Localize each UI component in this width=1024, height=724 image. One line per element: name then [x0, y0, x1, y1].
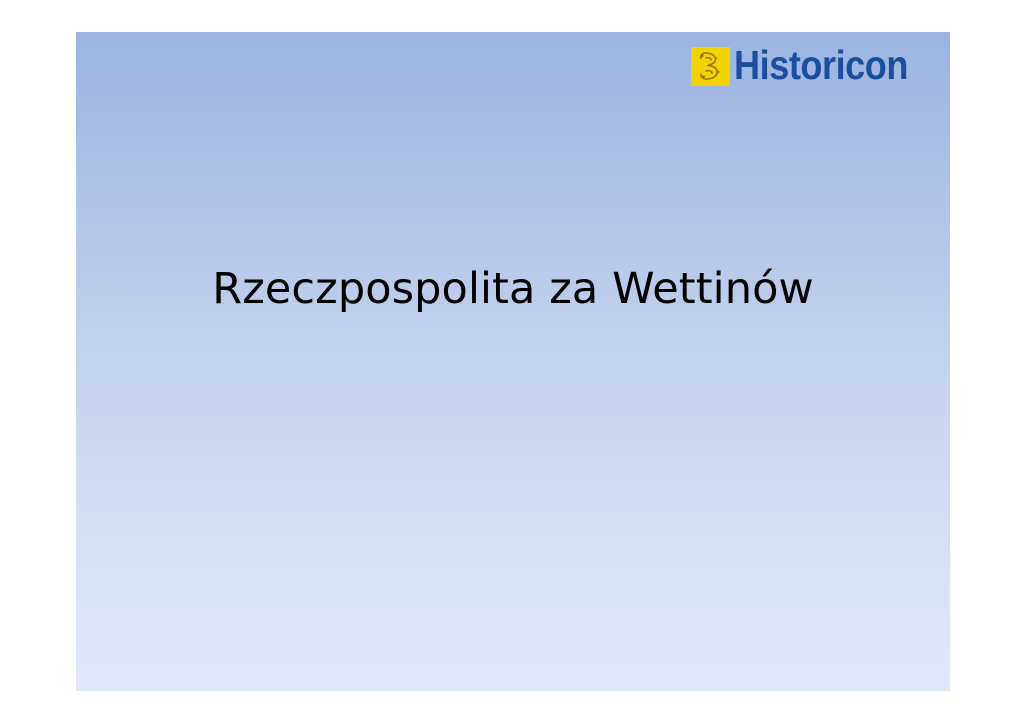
- title-block: Rzeczpospolita za Wettinów: [76, 264, 950, 316]
- slide-page: Historicon Rzeczpospolita za Wettinów: [0, 0, 1024, 724]
- presentation-slide: Historicon Rzeczpospolita za Wettinów: [76, 32, 950, 691]
- slide-content-area: [136, 392, 890, 661]
- historicon-wordmark: Historicon: [734, 45, 908, 88]
- historicon-emblem-icon: [691, 47, 730, 86]
- slide-title: Rzeczpospolita za Wettinów: [116, 264, 910, 316]
- historicon-logo[interactable]: Historicon: [691, 42, 932, 90]
